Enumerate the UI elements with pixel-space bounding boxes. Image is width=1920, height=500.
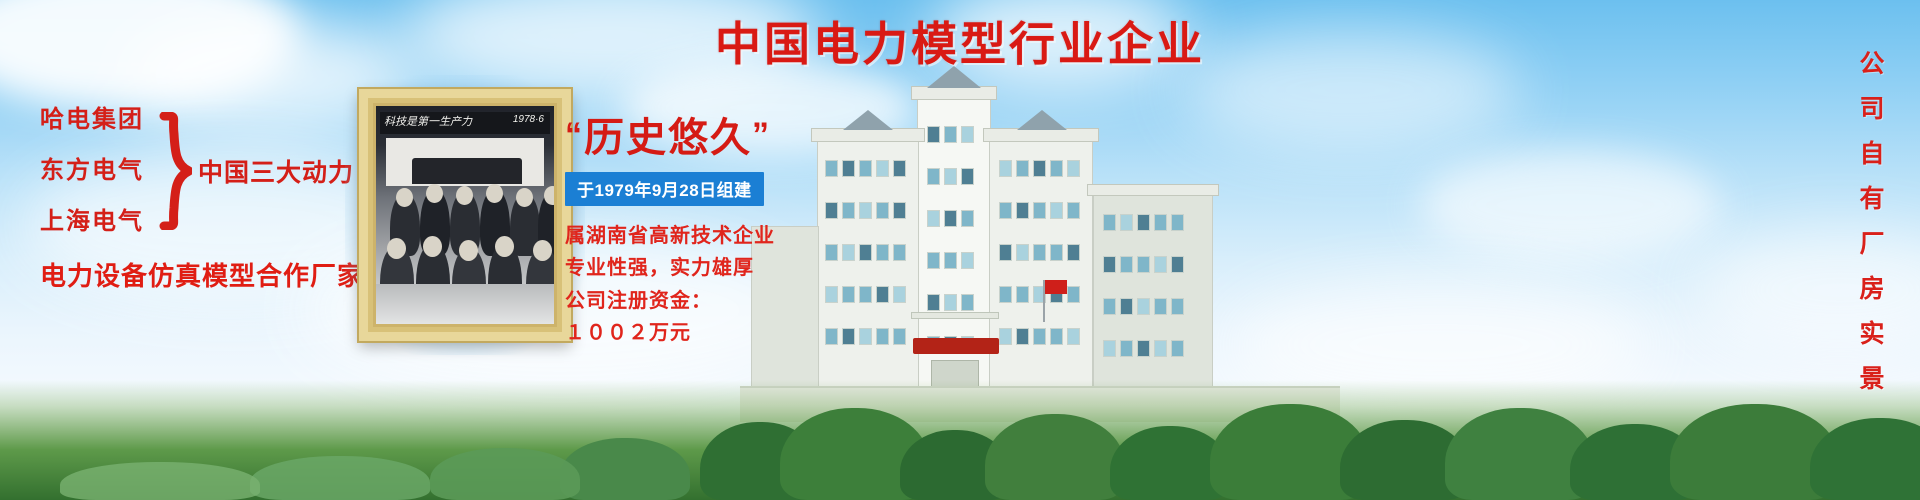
company-fact-line: 属湖南省高新技术企业 <box>565 220 815 252</box>
company-fact-line: 专业性强，实力雄厚 <box>565 252 815 284</box>
photo-furniture <box>412 158 522 184</box>
building-wing-right <box>989 140 1093 398</box>
three-brands-group: 哈电集团 东方电气 上海电气 中国三大动力 <box>40 108 370 234</box>
window-row <box>1103 298 1184 315</box>
window-row <box>999 328 1080 345</box>
middle-copy-block: “历史悠久” 于1979年9月28日组建 属湖南省高新技术企业 专业性强，实力雄… <box>565 118 815 350</box>
window-row <box>927 210 974 227</box>
entrance-signboard <box>913 338 999 354</box>
cloud-decoration <box>1420 150 1720 260</box>
tree-line <box>0 390 1920 500</box>
vertical-caption-char: 景 <box>1859 367 1884 392</box>
building-roof-annex <box>1087 184 1219 196</box>
window-row <box>825 160 906 177</box>
open-quote: “ <box>565 116 584 154</box>
vertical-caption: 公 司 自 有 厂 房 实 景 <box>1852 52 1892 392</box>
vertical-caption-char: 司 <box>1859 97 1884 122</box>
promo-banner: 中国电力模型行业企业 哈电集团 东方电气 上海电气 中国三大动力 电力设备仿真模… <box>0 0 1920 500</box>
office-building <box>795 98 1315 428</box>
window-row <box>1103 340 1184 357</box>
window-row <box>999 160 1080 177</box>
window-row <box>1103 256 1184 273</box>
brand-item: 东方电气 <box>40 159 144 183</box>
vertical-caption-char: 自 <box>1859 142 1884 167</box>
curly-brace-icon <box>158 112 192 230</box>
founding-date-badge: 于1979年9月28日组建 <box>565 172 764 206</box>
window-row <box>927 126 974 143</box>
flag <box>1045 280 1067 294</box>
brand-item: 上海电气 <box>40 210 144 234</box>
window-row <box>825 286 906 303</box>
building-roof-right <box>983 128 1099 142</box>
window-row <box>999 244 1080 261</box>
photo-date-tag: 1978·6 <box>513 114 544 125</box>
vertical-caption-char: 厂 <box>1859 232 1884 257</box>
window-row <box>1103 214 1184 231</box>
frame-outer-border: 科技是第一生产力 1978·6 <box>359 89 571 341</box>
page-title: 中国电力模型行业企业 <box>0 8 1920 74</box>
window-row <box>825 244 906 261</box>
vertical-caption-char: 房 <box>1859 277 1884 302</box>
window-row <box>927 252 974 269</box>
historic-photo-frame: 科技是第一生产力 1978·6 <box>345 75 585 355</box>
window-row <box>825 328 906 345</box>
window-row <box>927 168 974 185</box>
company-fact-line: １００２万元 <box>565 317 815 349</box>
brace-label: 中国三大动力 <box>198 153 354 189</box>
vertical-caption-char: 有 <box>1859 187 1884 212</box>
building-pyramid-roof <box>843 110 893 130</box>
photo-floor <box>376 284 554 324</box>
vertical-caption-char: 实 <box>1859 322 1884 347</box>
vertical-caption-char: 公 <box>1859 52 1884 77</box>
close-quote: ” <box>752 116 771 154</box>
building-wing-left <box>817 140 919 398</box>
company-facts-list: 属湖南省高新技术企业 专业性强，实力雄厚 公司注册资金： １００２万元 <box>565 220 815 350</box>
window-row <box>999 286 1080 303</box>
brand-item: 哈电集团 <box>40 108 144 132</box>
history-headline: “历史悠久” <box>565 118 815 158</box>
window-row <box>999 202 1080 219</box>
history-headline-text: 历史悠久 <box>584 116 752 160</box>
balcony <box>911 312 999 319</box>
window-row <box>825 202 906 219</box>
historic-photo: 科技是第一生产力 1978·6 <box>376 106 554 324</box>
building-pyramid-roof <box>1017 110 1067 130</box>
brand-list: 哈电集团 东方电气 上海电气 <box>40 108 144 234</box>
frame-inner-border: 科技是第一生产力 1978·6 <box>373 103 557 327</box>
partner-line: 电力设备仿真模型合作厂家 <box>40 256 370 293</box>
window-row <box>927 294 974 311</box>
building-roof-left <box>811 128 925 142</box>
company-fact-line: 公司注册资金： <box>565 285 815 317</box>
building-roof-center <box>911 86 997 100</box>
left-text-block: 哈电集团 东方电气 上海电气 中国三大动力 电力设备仿真模型合作厂家 <box>40 108 370 293</box>
